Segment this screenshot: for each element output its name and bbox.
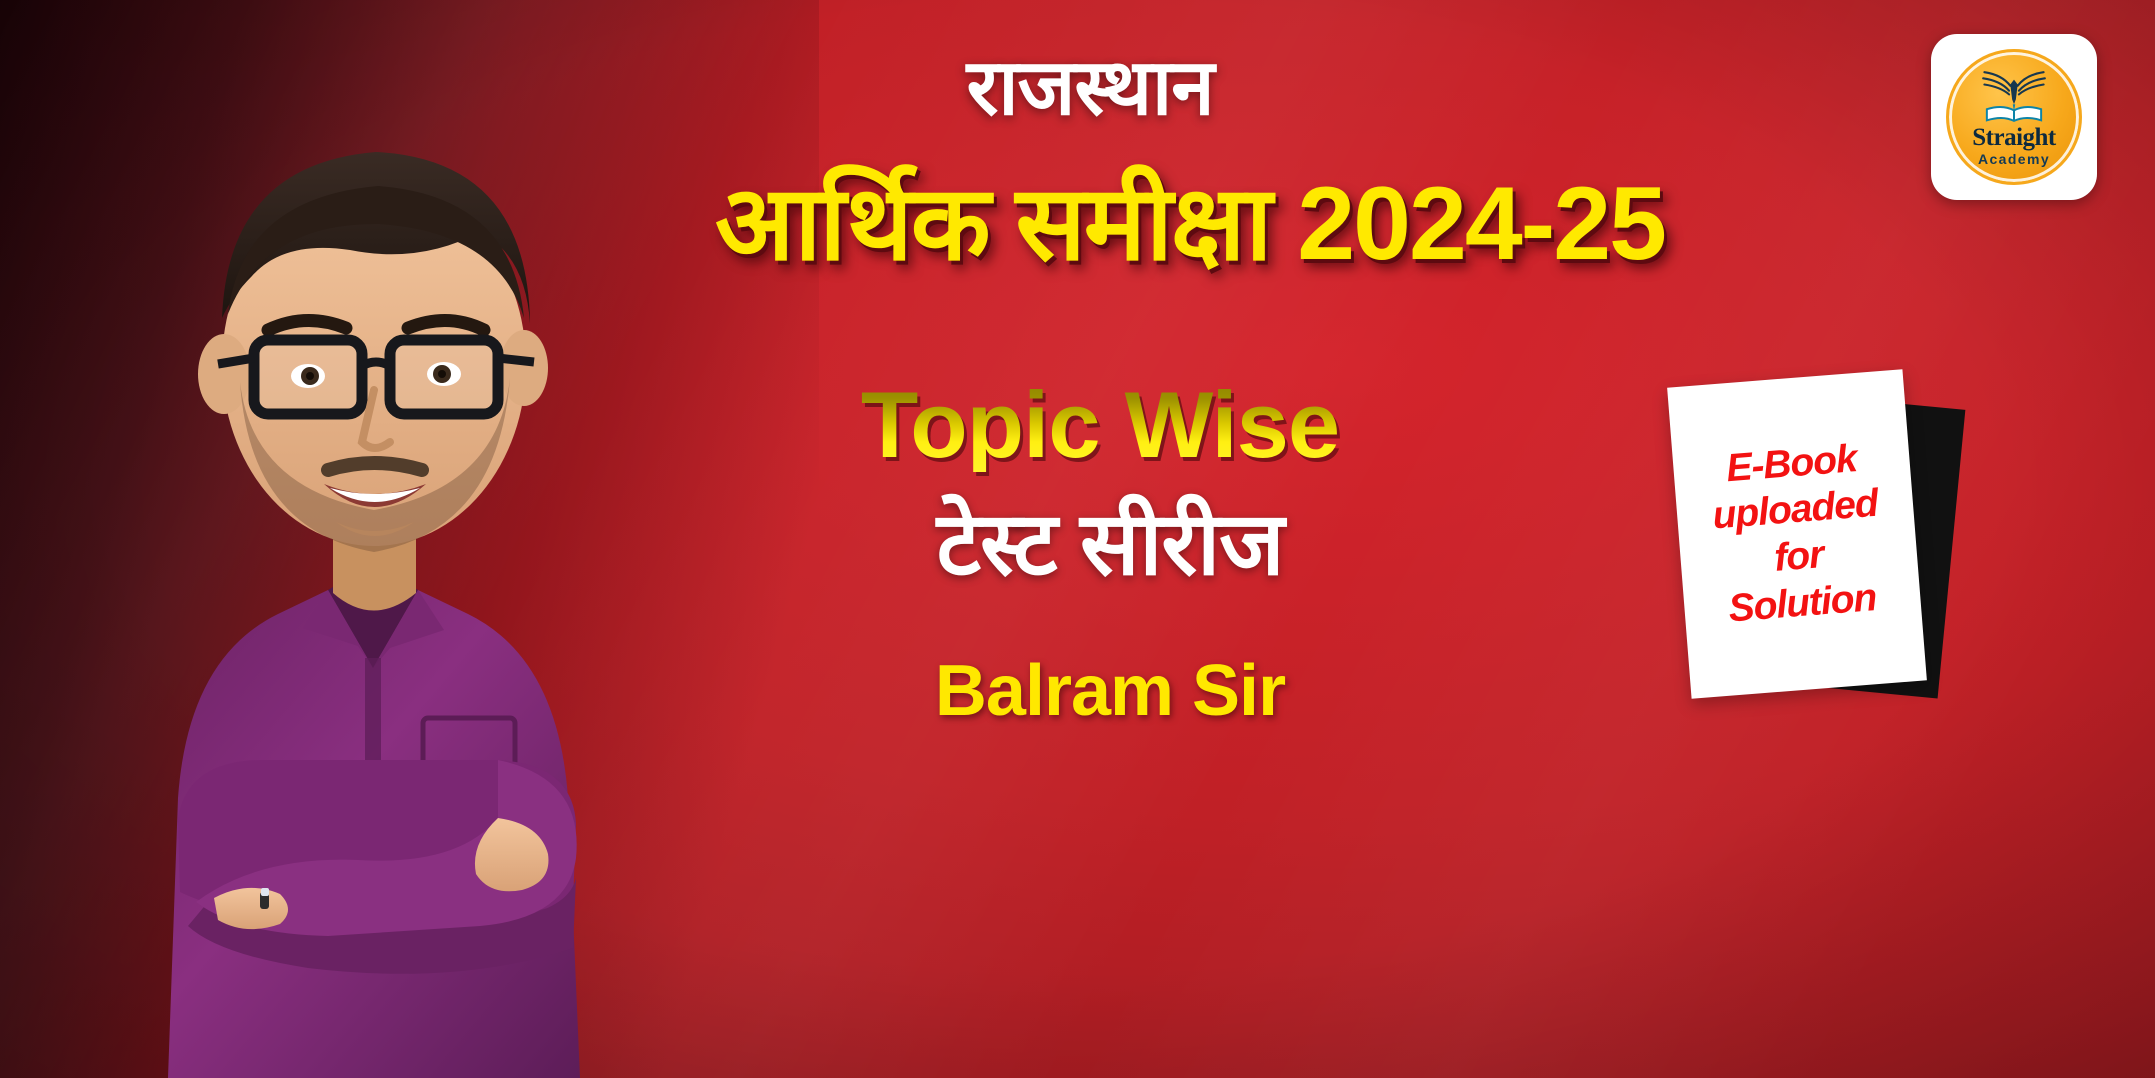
logo-circle: Straight Academy <box>1946 49 2082 185</box>
poster-canvas: राजस्थान आर्थिक समीक्षा 2024-25 Topic Wi… <box>0 0 2155 1078</box>
instructor-portrait <box>28 18 688 1078</box>
logo-name: Straight <box>1972 125 2056 150</box>
brand-logo: Straight Academy <box>1931 34 2097 200</box>
sticker-line-4: Solution <box>1727 578 1878 630</box>
winged-pen-over-book-icon <box>1977 66 2051 124</box>
sticker-line-3: for <box>1773 535 1825 579</box>
sticker-line-1: E-Book <box>1725 439 1858 490</box>
logo-subtitle: Academy <box>1978 152 2050 166</box>
ebook-sticker: E-Book uploaded for Solution <box>1667 369 1927 699</box>
sticker-line-2: uploaded <box>1711 484 1879 537</box>
